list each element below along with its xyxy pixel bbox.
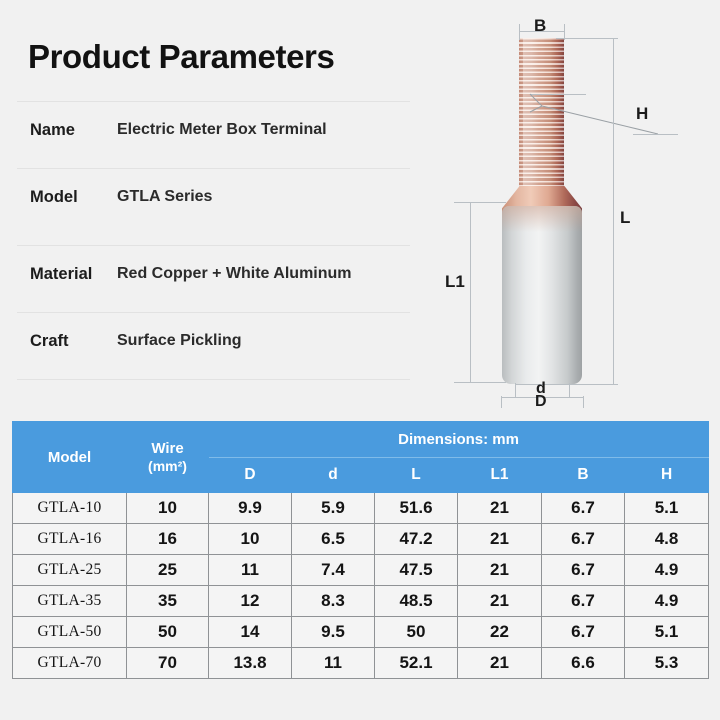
cell-H: 5.3 <box>625 648 709 679</box>
d-dim-tick-right <box>569 383 570 397</box>
cell-wire: 10 <box>127 493 209 524</box>
cell-H: 5.1 <box>625 493 709 524</box>
page-title: Product Parameters <box>28 38 334 76</box>
cell-L1: 21 <box>458 586 542 617</box>
cell-H: 4.8 <box>625 524 709 555</box>
cell-model: GTLA-35 <box>13 586 127 617</box>
table-body: GTLA-10109.95.951.6216.75.1GTLA-1616106.… <box>13 493 709 679</box>
table-header: Model Wire (mm²) Dimensions: mm D d L L1… <box>13 422 709 493</box>
cell-H: 4.9 <box>625 555 709 586</box>
cell-D: 13.8 <box>209 648 292 679</box>
l1-dim-tick-top <box>454 202 506 203</box>
spec-row-material: Material Red Copper + White Aluminum <box>17 245 412 312</box>
header-col-D: D <box>209 457 292 493</box>
cell-D: 12 <box>209 586 292 617</box>
table-row: GTLA-10109.95.951.6216.75.1 <box>13 493 709 524</box>
spec-row-model: Model GTLA Series <box>17 168 412 235</box>
cell-L: 48.5 <box>375 586 458 617</box>
dimensions-table: Model Wire (mm²) Dimensions: mm D d L L1… <box>12 421 709 679</box>
barrel-top-gradient <box>502 206 582 232</box>
cell-model: GTLA-70 <box>13 648 127 679</box>
header-col-B: B <box>542 457 625 493</box>
cell-L1: 21 <box>458 524 542 555</box>
header-col-L: L <box>375 457 458 493</box>
spec-label: Name <box>30 121 75 140</box>
cell-d: 7.4 <box>292 555 375 586</box>
l-dim-line <box>613 38 614 384</box>
cell-wire: 25 <box>127 555 209 586</box>
cell-L: 50 <box>375 617 458 648</box>
cell-H: 5.1 <box>625 617 709 648</box>
cell-L: 51.6 <box>375 493 458 524</box>
cell-d: 9.5 <box>292 617 375 648</box>
header-wire: Wire (mm²) <box>127 422 209 493</box>
spec-value: Red Copper + White Aluminum <box>117 265 352 283</box>
cell-L1: 21 <box>458 555 542 586</box>
cell-B: 6.7 <box>542 617 625 648</box>
spec-value: Surface Pickling <box>117 332 242 350</box>
table-row: GTLA-2525117.447.5216.74.9 <box>13 555 709 586</box>
cell-L1: 22 <box>458 617 542 648</box>
header-model: Model <box>13 422 127 493</box>
h-leader-lower <box>633 134 678 135</box>
spec-value: GTLA Series <box>117 188 212 206</box>
cell-model: GTLA-50 <box>13 617 127 648</box>
table-row: GTLA-1616106.547.2216.74.8 <box>13 524 709 555</box>
spec-row-craft: Craft Surface Pickling <box>17 312 412 379</box>
spec-divider <box>17 379 410 380</box>
cell-H: 4.9 <box>625 586 709 617</box>
cell-D: 14 <box>209 617 292 648</box>
cell-wire: 50 <box>127 617 209 648</box>
table-row: GTLA-3535128.348.5216.74.9 <box>13 586 709 617</box>
product-diagram: B H L L1 d D <box>440 0 720 410</box>
cell-L1: 21 <box>458 648 542 679</box>
big-d-dim-label: D <box>535 393 547 411</box>
cell-L: 47.2 <box>375 524 458 555</box>
cell-D: 10 <box>209 524 292 555</box>
spec-row-name: Name Electric Meter Box Terminal <box>17 101 412 168</box>
cell-wire: 70 <box>127 648 209 679</box>
l1-dim-line <box>470 202 471 382</box>
cell-L1: 21 <box>458 493 542 524</box>
cell-B: 6.6 <box>542 648 625 679</box>
spec-label: Craft <box>30 332 69 351</box>
header-wire-unit: (mm²) <box>127 458 208 474</box>
header-dimensions-span: Dimensions: mm <box>209 422 709 458</box>
header-wire-text: Wire <box>151 440 183 457</box>
l1-dim-tick-bottom <box>454 382 506 383</box>
cell-B: 6.7 <box>542 586 625 617</box>
cell-wire: 16 <box>127 524 209 555</box>
header-col-L1: L1 <box>458 457 542 493</box>
table-row: GTLA-707013.81152.1216.65.3 <box>13 648 709 679</box>
cell-L: 47.5 <box>375 555 458 586</box>
h-dim-label: H <box>636 104 648 124</box>
header-col-d: d <box>292 457 375 493</box>
header-col-H: H <box>625 457 709 493</box>
cell-B: 6.7 <box>542 524 625 555</box>
cell-d: 5.9 <box>292 493 375 524</box>
cell-B: 6.7 <box>542 493 625 524</box>
cell-d: 8.3 <box>292 586 375 617</box>
cell-model: GTLA-25 <box>13 555 127 586</box>
cell-B: 6.7 <box>542 555 625 586</box>
cell-model: GTLA-16 <box>13 524 127 555</box>
table-row: GTLA-5050149.550226.75.1 <box>13 617 709 648</box>
l1-dim-label: L1 <box>445 272 465 292</box>
cell-model: GTLA-10 <box>13 493 127 524</box>
l-dim-label: L <box>620 208 630 228</box>
d-dim-tick-left <box>515 383 516 397</box>
cell-d: 6.5 <box>292 524 375 555</box>
spec-value: Electric Meter Box Terminal <box>117 121 327 139</box>
l-dim-tick-top <box>556 38 618 39</box>
cell-d: 11 <box>292 648 375 679</box>
cell-D: 9.9 <box>209 493 292 524</box>
spec-label: Material <box>30 265 92 284</box>
cell-D: 11 <box>209 555 292 586</box>
aluminum-barrel <box>502 206 582 384</box>
cell-wire: 35 <box>127 586 209 617</box>
specification-panel: Product Parameters Name Electric Meter B… <box>0 0 440 410</box>
cell-L: 52.1 <box>375 648 458 679</box>
b-dim-tick-left <box>519 24 520 40</box>
spec-label: Model <box>30 188 78 207</box>
b-dim-label: B <box>534 16 546 36</box>
